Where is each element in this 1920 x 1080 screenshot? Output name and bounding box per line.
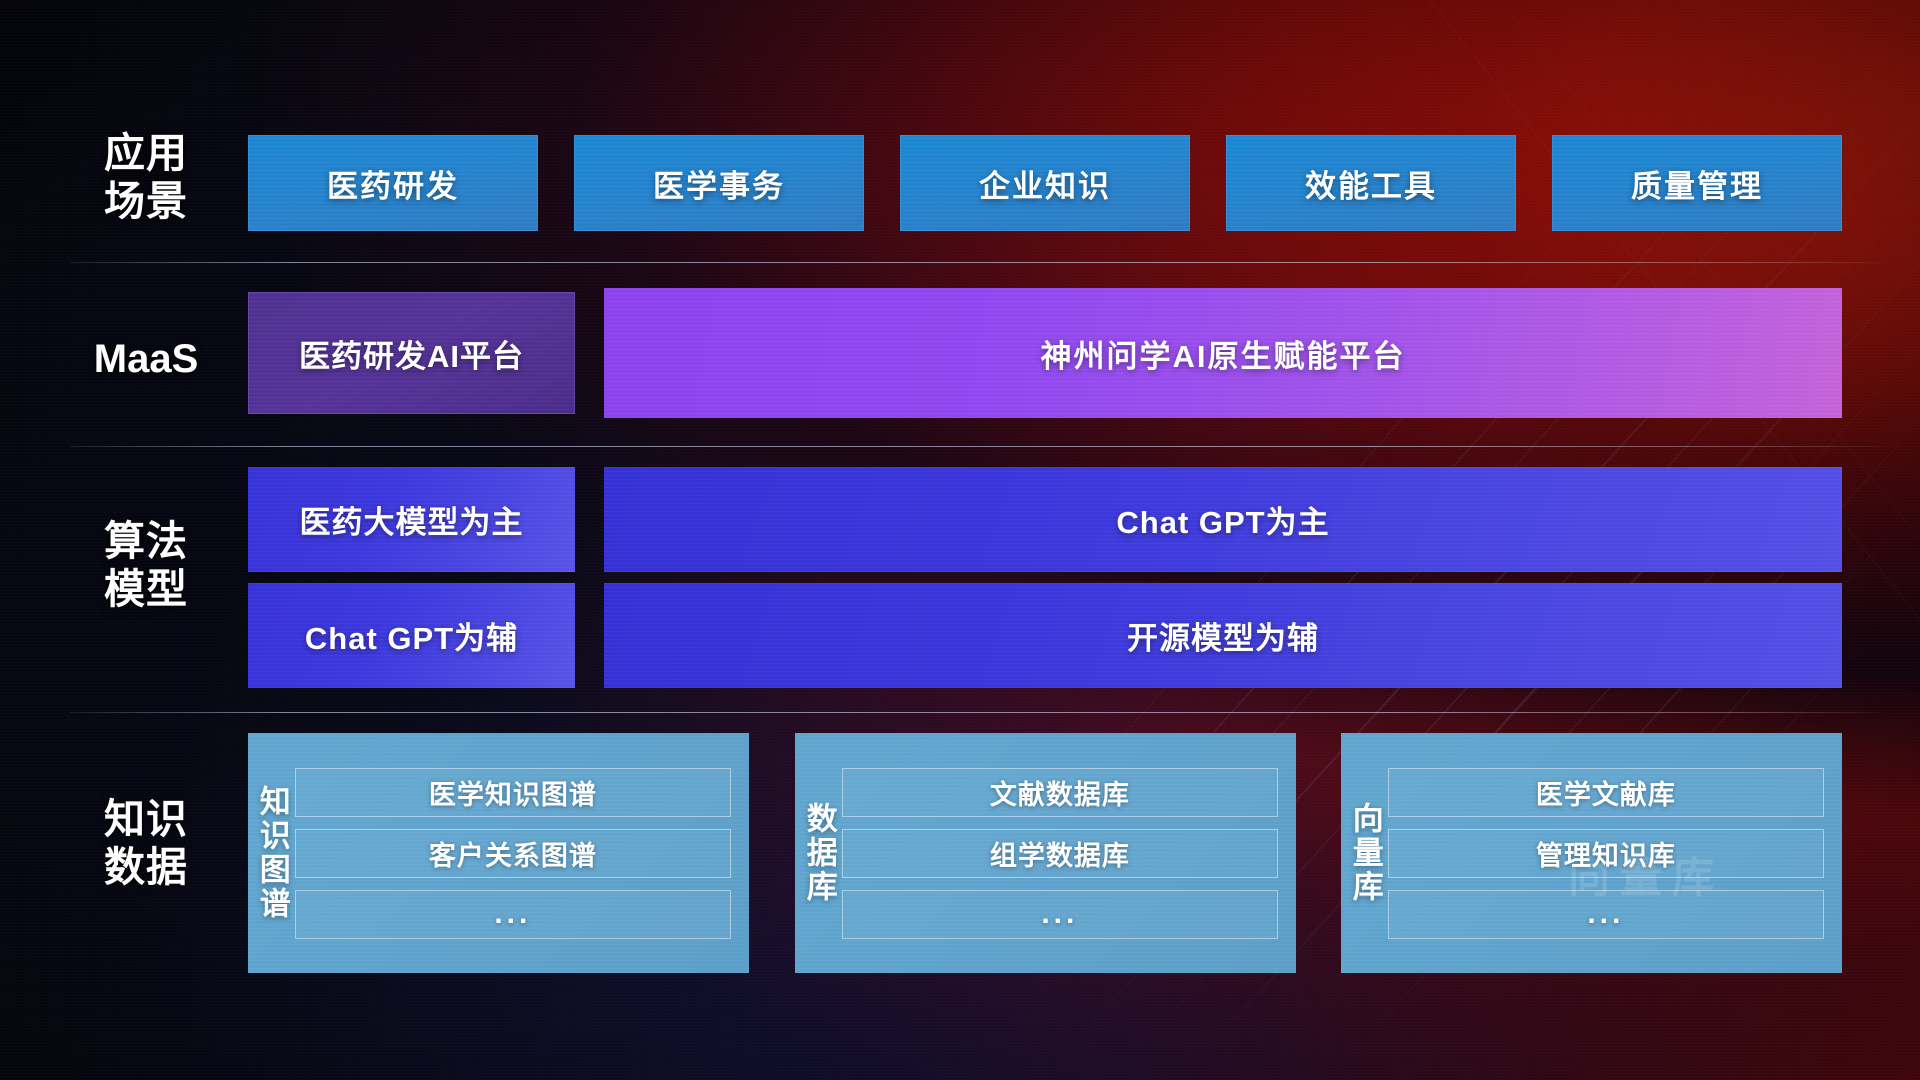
knowledge-group-vector-title: 向量库 — [1341, 733, 1388, 973]
row-label-knowledge: 知识 数据 — [70, 795, 222, 892]
row-label-application-line1: 应用 — [70, 129, 222, 177]
maas-tile-pharma-ai-platform-label: 医药研发AI平台 — [299, 331, 524, 376]
architecture-diagram: 应用 场景 医药研发 医学事务 企业知识 效能工具 质量管理 MaaS 医药研发… — [0, 0, 1920, 1080]
knowledge-item-medical-graph-label: 医学知识图谱 — [429, 773, 597, 812]
row-label-application: 应用 场景 — [70, 129, 222, 226]
knowledge-item-medical-literature-label: 医学文献库 — [1536, 773, 1676, 812]
knowledge-item-literature-db[interactable]: 文献数据库 — [842, 768, 1278, 817]
knowledge-item-management-knowledge-label: 管理知识库 — [1536, 834, 1676, 873]
knowledge-item-database-more[interactable]: ... — [842, 890, 1278, 939]
row-label-maas: MaaS — [70, 336, 222, 383]
row-label-application-line2: 场景 — [70, 177, 222, 225]
algo-tile-opensource-secondary[interactable]: 开源模型为辅 — [604, 583, 1842, 688]
algo-tile-pharma-llm-primary[interactable]: 医药大模型为主 — [248, 467, 575, 572]
app-tile-quality-management[interactable]: 质量管理 — [1552, 135, 1842, 231]
divider-maas-algorithm — [70, 446, 1882, 447]
knowledge-group-database: 数据库 文献数据库 组学数据库 ... — [795, 733, 1296, 973]
knowledge-group-graph-items: 医学知识图谱 客户关系图谱 ... — [295, 733, 749, 973]
knowledge-item-graph-more-label: ... — [494, 897, 531, 931]
divider-application-maas — [70, 262, 1882, 263]
app-tile-efficiency-tools-label: 效能工具 — [1305, 161, 1437, 206]
knowledge-item-management-knowledge[interactable]: 管理知识库 — [1388, 829, 1824, 878]
divider-algorithm-knowledge — [70, 712, 1882, 713]
knowledge-item-database-more-label: ... — [1041, 897, 1078, 931]
knowledge-item-customer-graph-label: 客户关系图谱 — [429, 834, 597, 873]
knowledge-item-literature-db-label: 文献数据库 — [990, 773, 1130, 812]
knowledge-item-omics-db-label: 组学数据库 — [990, 834, 1130, 873]
row-label-knowledge-line1: 知识 — [70, 795, 222, 843]
algo-tile-chatgpt-primary-label: Chat GPT为主 — [1116, 497, 1329, 542]
maas-tile-shenzhou-platform-label: 神州问学AI原生赋能平台 — [1041, 331, 1406, 376]
app-tile-medical-affairs-label: 医学事务 — [653, 161, 785, 206]
row-label-algorithm-line2: 模型 — [70, 565, 222, 613]
knowledge-item-customer-graph[interactable]: 客户关系图谱 — [295, 829, 731, 878]
row-label-knowledge-line2: 数据 — [70, 843, 222, 891]
app-tile-enterprise-knowledge[interactable]: 企业知识 — [900, 135, 1190, 231]
knowledge-item-graph-more[interactable]: ... — [295, 890, 731, 939]
knowledge-group-graph-title: 知识图谱 — [248, 733, 295, 973]
algo-tile-chatgpt-secondary-label: Chat GPT为辅 — [305, 613, 518, 658]
knowledge-group-database-title: 数据库 — [795, 733, 842, 973]
row-label-algorithm: 算法 模型 — [70, 517, 222, 614]
app-tile-medical-affairs[interactable]: 医学事务 — [574, 135, 864, 231]
row-label-maas-line1: MaaS — [70, 336, 222, 383]
knowledge-group-database-items: 文献数据库 组学数据库 ... — [842, 733, 1296, 973]
knowledge-group-vector: 向量库 医学文献库 管理知识库 ... 向量库 — [1341, 733, 1842, 973]
app-tile-efficiency-tools[interactable]: 效能工具 — [1226, 135, 1516, 231]
algo-tile-pharma-llm-primary-label: 医药大模型为主 — [300, 497, 524, 542]
knowledge-item-vector-more-label: ... — [1587, 897, 1624, 931]
app-tile-quality-management-label: 质量管理 — [1631, 161, 1763, 206]
app-tile-pharma-rnd[interactable]: 医药研发 — [248, 135, 538, 231]
algo-tile-chatgpt-primary[interactable]: Chat GPT为主 — [604, 467, 1842, 572]
algo-tile-chatgpt-secondary[interactable]: Chat GPT为辅 — [248, 583, 575, 688]
algo-tile-opensource-secondary-label: 开源模型为辅 — [1127, 613, 1319, 658]
app-tile-enterprise-knowledge-label: 企业知识 — [979, 161, 1111, 206]
knowledge-group-graph: 知识图谱 医学知识图谱 客户关系图谱 ... — [248, 733, 749, 973]
knowledge-group-vector-items: 医学文献库 管理知识库 ... — [1388, 733, 1842, 973]
knowledge-item-vector-more[interactable]: ... — [1388, 890, 1824, 939]
knowledge-item-medical-graph[interactable]: 医学知识图谱 — [295, 768, 731, 817]
knowledge-item-medical-literature[interactable]: 医学文献库 — [1388, 768, 1824, 817]
maas-tile-pharma-ai-platform[interactable]: 医药研发AI平台 — [248, 292, 575, 414]
row-label-algorithm-line1: 算法 — [70, 517, 222, 565]
app-tile-pharma-rnd-label: 医药研发 — [327, 161, 459, 206]
knowledge-item-omics-db[interactable]: 组学数据库 — [842, 829, 1278, 878]
maas-tile-shenzhou-platform[interactable]: 神州问学AI原生赋能平台 — [604, 288, 1842, 418]
